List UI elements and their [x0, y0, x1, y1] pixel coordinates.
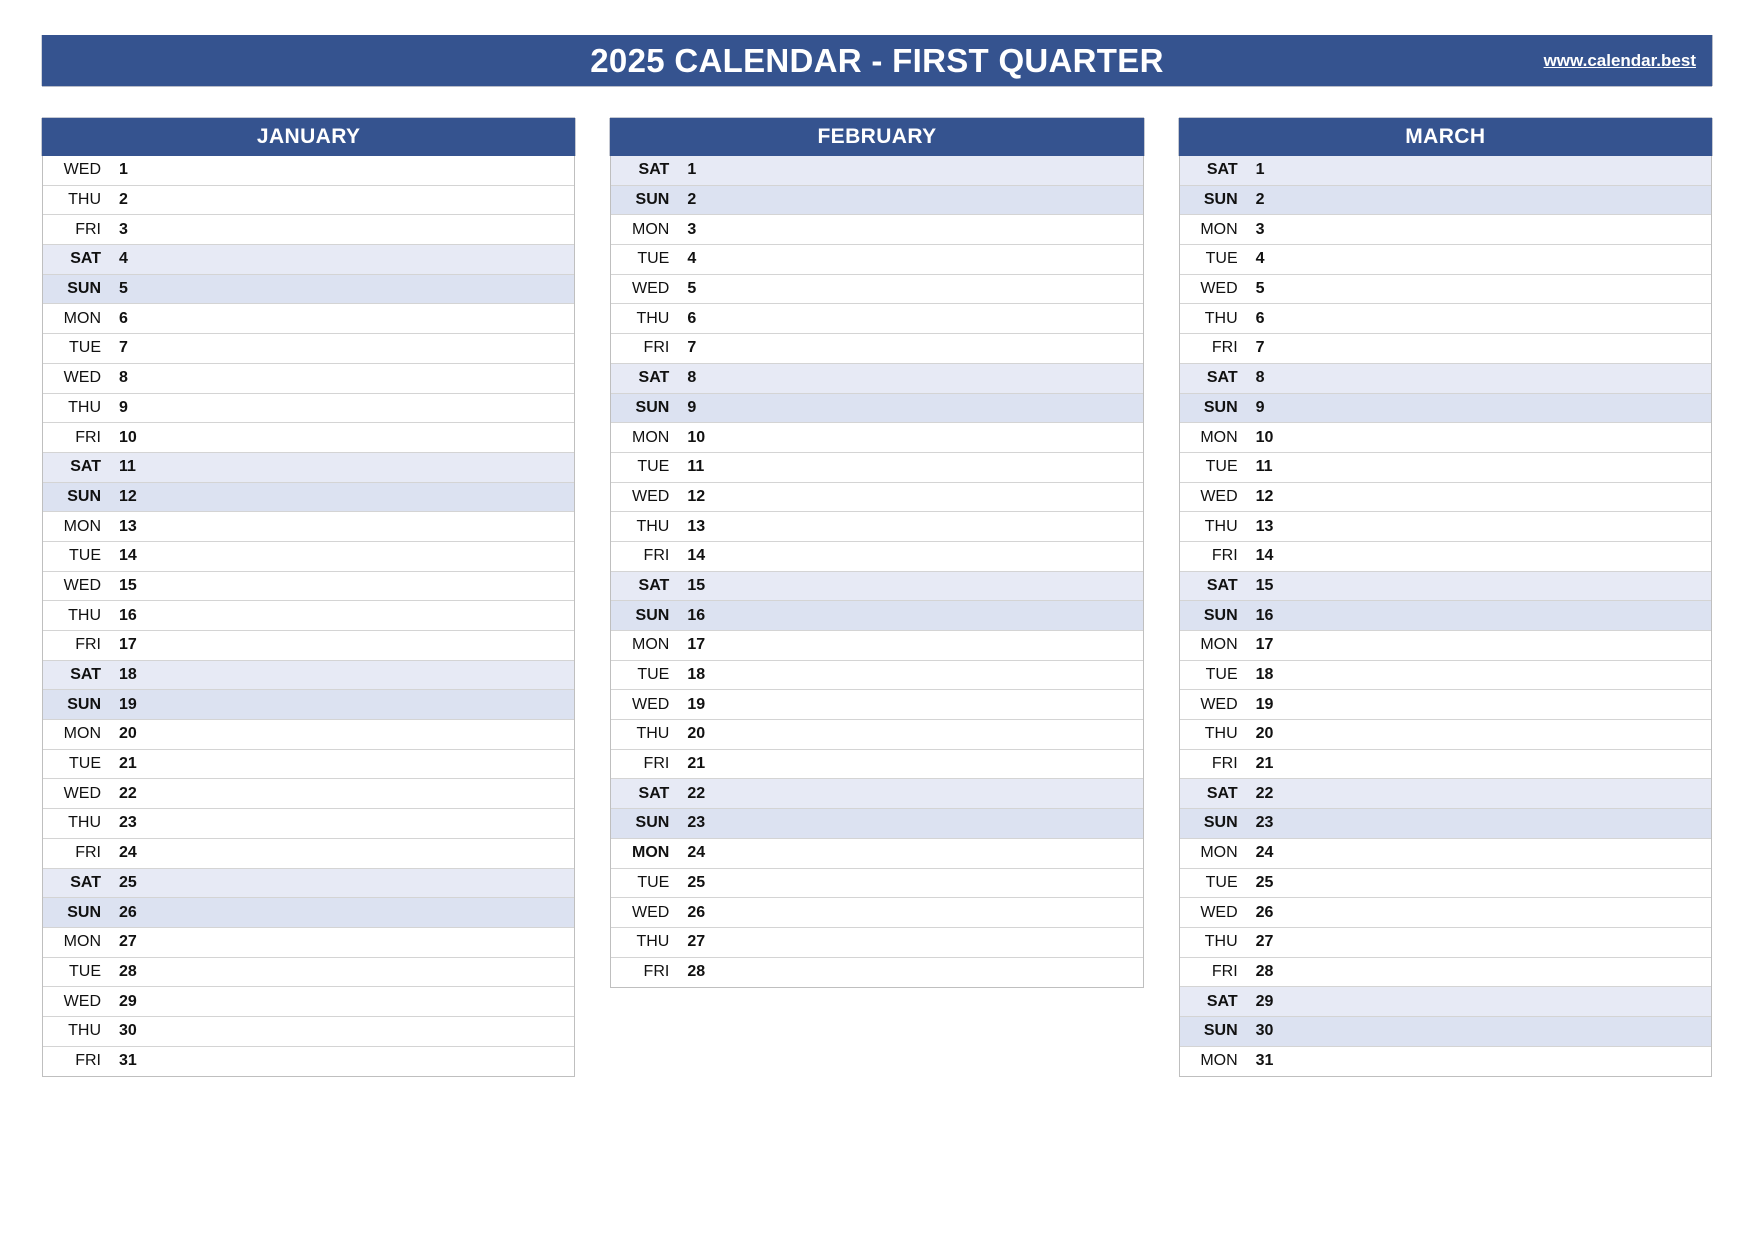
day-number: 13 — [101, 518, 161, 536]
day-row[interactable]: WED22 — [43, 779, 574, 809]
day-number: 20 — [1238, 725, 1298, 743]
day-of-week-label: FRI — [1180, 755, 1238, 773]
day-number: 6 — [669, 310, 729, 328]
day-row[interactable]: SAT22 — [611, 779, 1142, 809]
day-row[interactable]: TUE18 — [1180, 661, 1711, 691]
day-of-week-label: FRI — [43, 1052, 101, 1070]
day-row[interactable]: THU20 — [611, 720, 1142, 750]
day-row[interactable]: THU6 — [611, 304, 1142, 334]
day-of-week-label: SAT — [611, 369, 669, 387]
day-number: 14 — [101, 547, 161, 565]
day-number: 9 — [669, 399, 729, 417]
day-number: 16 — [669, 607, 729, 625]
day-number: 17 — [101, 636, 161, 654]
day-of-week-label: SAT — [611, 577, 669, 595]
day-row[interactable]: SAT4 — [43, 245, 574, 275]
day-number: 20 — [669, 725, 729, 743]
day-row[interactable]: TUE25 — [1180, 869, 1711, 899]
day-number: 3 — [1238, 221, 1298, 239]
day-number: 11 — [669, 458, 729, 476]
day-of-week-label: MON — [1180, 636, 1238, 654]
day-number: 19 — [101, 696, 161, 714]
day-of-week-label: FRI — [1180, 339, 1238, 357]
day-row[interactable]: WED1 — [43, 156, 574, 186]
day-of-week-label: FRI — [1180, 547, 1238, 565]
day-row[interactable]: SAT29 — [1180, 987, 1711, 1017]
day-row[interactable]: TUE4 — [611, 245, 1142, 275]
day-of-week-label: SUN — [43, 696, 101, 714]
day-of-week-label: SUN — [611, 607, 669, 625]
day-number: 30 — [1238, 1022, 1298, 1040]
day-row[interactable]: FRI28 — [611, 958, 1142, 988]
day-of-week-label: TUE — [43, 963, 101, 981]
day-row[interactable]: MON10 — [611, 423, 1142, 453]
day-of-week-label: THU — [611, 518, 669, 536]
day-of-week-label: THU — [611, 933, 669, 951]
day-number: 19 — [1238, 696, 1298, 714]
day-row[interactable]: TUE7 — [43, 334, 574, 364]
day-row[interactable]: FRI17 — [43, 631, 574, 661]
day-number: 13 — [1238, 518, 1298, 536]
day-row[interactable]: FRI31 — [43, 1047, 574, 1077]
month-day-list: WED1THU2FRI3SAT4SUN5MON6TUE7WED8THU9FRI1… — [42, 156, 575, 1077]
day-of-week-label: SUN — [611, 399, 669, 417]
day-number: 4 — [1238, 250, 1298, 268]
day-number: 9 — [1238, 399, 1298, 417]
day-row[interactable]: TUE18 — [611, 661, 1142, 691]
day-of-week-label: SUN — [611, 814, 669, 832]
day-number: 10 — [1238, 429, 1298, 447]
day-of-week-label: WED — [611, 904, 669, 922]
month-day-list: SAT1SUN2MON3TUE4WED5THU6FRI7SAT8SUN9MON1… — [1179, 156, 1712, 1077]
day-number: 29 — [1238, 993, 1298, 1011]
day-number: 22 — [1238, 785, 1298, 803]
day-row[interactable]: TUE21 — [43, 750, 574, 780]
day-of-week-label: FRI — [611, 547, 669, 565]
day-row[interactable]: SAT11 — [43, 453, 574, 483]
day-row[interactable]: SUN2 — [611, 186, 1142, 216]
site-url-link[interactable]: www.calendar.best — [1544, 51, 1696, 71]
page-header: 2025 CALENDAR - FIRST QUARTER www.calend… — [42, 35, 1712, 86]
day-of-week-label: SUN — [1180, 191, 1238, 209]
day-of-week-label: WED — [1180, 280, 1238, 298]
day-row[interactable]: FRI3 — [43, 215, 574, 245]
day-number: 8 — [101, 369, 161, 387]
day-of-week-label: FRI — [43, 844, 101, 862]
day-number: 5 — [669, 280, 729, 298]
day-number: 27 — [669, 933, 729, 951]
day-of-week-label: FRI — [611, 963, 669, 981]
day-of-week-label: SAT — [43, 250, 101, 268]
day-of-week-label: MON — [43, 518, 101, 536]
day-number: 17 — [669, 636, 729, 654]
day-of-week-label: WED — [43, 577, 101, 595]
day-row[interactable]: SUN23 — [1180, 809, 1711, 839]
day-row[interactable]: WED26 — [1180, 898, 1711, 928]
day-of-week-label: SUN — [1180, 1022, 1238, 1040]
day-row[interactable]: SUN23 — [611, 809, 1142, 839]
day-of-week-label: THU — [1180, 310, 1238, 328]
month-column-february: FEBRUARYSAT1SUN2MON3TUE4WED5THU6FRI7SAT8… — [610, 118, 1143, 1077]
day-row[interactable]: THU6 — [1180, 304, 1711, 334]
day-number: 2 — [101, 191, 161, 209]
day-row[interactable]: MON24 — [1180, 839, 1711, 869]
day-of-week-label: MON — [1180, 429, 1238, 447]
day-of-week-label: WED — [611, 280, 669, 298]
day-row[interactable]: FRI7 — [611, 334, 1142, 364]
day-of-week-label: SAT — [1180, 993, 1238, 1011]
day-row[interactable]: THU16 — [43, 601, 574, 631]
month-header: FEBRUARY — [610, 118, 1143, 156]
day-of-week-label: THU — [1180, 725, 1238, 743]
day-row[interactable]: SAT1 — [611, 156, 1142, 186]
day-of-week-label: TUE — [1180, 874, 1238, 892]
day-row[interactable]: SAT18 — [43, 661, 574, 691]
day-number: 16 — [101, 607, 161, 625]
day-number: 2 — [1238, 191, 1298, 209]
day-of-week-label: SUN — [43, 280, 101, 298]
month-day-list: SAT1SUN2MON3TUE4WED5THU6FRI7SAT8SUN9MON1… — [610, 156, 1143, 988]
day-of-week-label: FRI — [611, 339, 669, 357]
day-of-week-label: SAT — [43, 874, 101, 892]
day-of-week-label: TUE — [1180, 250, 1238, 268]
day-number: 10 — [101, 429, 161, 447]
day-row[interactable]: THU13 — [611, 512, 1142, 542]
day-number: 4 — [669, 250, 729, 268]
day-row[interactable]: TUE28 — [43, 958, 574, 988]
day-number: 5 — [1238, 280, 1298, 298]
day-of-week-label: FRI — [1180, 963, 1238, 981]
day-row[interactable]: MON24 — [611, 839, 1142, 869]
day-row[interactable]: SAT8 — [611, 364, 1142, 394]
day-number: 23 — [101, 814, 161, 832]
day-row[interactable]: THU30 — [43, 1017, 574, 1047]
day-row[interactable]: WED15 — [43, 572, 574, 602]
day-row[interactable]: TUE4 — [1180, 245, 1711, 275]
day-of-week-label: SAT — [1180, 577, 1238, 595]
day-row[interactable]: MON6 — [43, 304, 574, 334]
day-row[interactable]: FRI10 — [43, 423, 574, 453]
day-row[interactable]: SAT8 — [1180, 364, 1711, 394]
day-row[interactable]: FRI7 — [1180, 334, 1711, 364]
day-number: 21 — [1238, 755, 1298, 773]
day-row[interactable]: SUN26 — [43, 898, 574, 928]
day-number: 18 — [669, 666, 729, 684]
day-number: 25 — [669, 874, 729, 892]
day-row[interactable]: WED12 — [1180, 483, 1711, 513]
day-of-week-label: WED — [43, 161, 101, 179]
day-of-week-label: WED — [1180, 904, 1238, 922]
day-number: 6 — [1238, 310, 1298, 328]
day-of-week-label: MON — [43, 933, 101, 951]
day-row[interactable]: SUN5 — [43, 275, 574, 305]
page-title: 2025 CALENDAR - FIRST QUARTER — [590, 42, 1163, 80]
day-of-week-label: FRI — [43, 636, 101, 654]
day-of-week-label: THU — [43, 399, 101, 417]
month-header: MARCH — [1179, 118, 1712, 156]
day-number: 3 — [669, 221, 729, 239]
day-row[interactable]: FRI24 — [43, 839, 574, 869]
day-number: 26 — [101, 904, 161, 922]
day-number: 28 — [1238, 963, 1298, 981]
day-of-week-label: THU — [611, 310, 669, 328]
day-number: 28 — [669, 963, 729, 981]
day-row[interactable]: WED5 — [611, 275, 1142, 305]
day-of-week-label: TUE — [1180, 458, 1238, 476]
day-row[interactable]: MON3 — [611, 215, 1142, 245]
day-of-week-label: TUE — [43, 547, 101, 565]
day-of-week-label: THU — [1180, 518, 1238, 536]
day-number: 8 — [669, 369, 729, 387]
day-number: 31 — [101, 1052, 161, 1070]
day-row[interactable]: THU9 — [43, 394, 574, 424]
day-number: 12 — [669, 488, 729, 506]
day-of-week-label: WED — [611, 488, 669, 506]
day-number: 10 — [669, 429, 729, 447]
day-of-week-label: MON — [611, 636, 669, 654]
day-row[interactable]: WED19 — [1180, 690, 1711, 720]
day-of-week-label: WED — [611, 696, 669, 714]
day-row[interactable]: THU2 — [43, 186, 574, 216]
day-number: 19 — [669, 696, 729, 714]
day-row[interactable]: MON31 — [1180, 1047, 1711, 1077]
day-row[interactable]: FRI14 — [1180, 542, 1711, 572]
day-number: 1 — [669, 161, 729, 179]
day-row[interactable]: SUN16 — [1180, 601, 1711, 631]
month-column-january: JANUARYWED1THU2FRI3SAT4SUN5MON6TUE7WED8T… — [42, 118, 575, 1077]
day-row[interactable]: THU20 — [1180, 720, 1711, 750]
day-row[interactable]: SAT25 — [43, 869, 574, 899]
day-of-week-label: WED — [1180, 696, 1238, 714]
day-number: 21 — [101, 755, 161, 773]
day-row[interactable]: WED12 — [611, 483, 1142, 513]
day-number: 30 — [101, 1022, 161, 1040]
day-number: 24 — [1238, 844, 1298, 862]
day-row[interactable]: FRI14 — [611, 542, 1142, 572]
day-of-week-label: TUE — [611, 666, 669, 684]
day-number: 9 — [101, 399, 161, 417]
day-of-week-label: TUE — [43, 339, 101, 357]
day-of-week-label: SAT — [611, 785, 669, 803]
day-row[interactable]: TUE11 — [611, 453, 1142, 483]
day-row[interactable]: WED29 — [43, 987, 574, 1017]
day-number: 7 — [101, 339, 161, 357]
day-row[interactable]: WED5 — [1180, 275, 1711, 305]
day-row[interactable]: SUN30 — [1180, 1017, 1711, 1047]
day-of-week-label: SAT — [1180, 161, 1238, 179]
day-row[interactable]: TUE14 — [43, 542, 574, 572]
day-row[interactable]: SUN19 — [43, 690, 574, 720]
day-row[interactable]: WED8 — [43, 364, 574, 394]
day-of-week-label: WED — [1180, 488, 1238, 506]
day-of-week-label: MON — [611, 221, 669, 239]
day-number: 28 — [101, 963, 161, 981]
day-number: 18 — [101, 666, 161, 684]
day-of-week-label: SAT — [43, 458, 101, 476]
day-row[interactable]: MON20 — [43, 720, 574, 750]
day-number: 15 — [101, 577, 161, 595]
day-number: 2 — [669, 191, 729, 209]
day-number: 25 — [101, 874, 161, 892]
day-of-week-label: THU — [43, 1022, 101, 1040]
day-row[interactable]: FRI21 — [1180, 750, 1711, 780]
day-number: 7 — [1238, 339, 1298, 357]
day-of-week-label: MON — [611, 844, 669, 862]
day-number: 6 — [101, 310, 161, 328]
day-number: 17 — [1238, 636, 1298, 654]
day-of-week-label: FRI — [43, 429, 101, 447]
day-row[interactable]: SUN2 — [1180, 186, 1711, 216]
day-row[interactable]: TUE11 — [1180, 453, 1711, 483]
day-of-week-label: MON — [1180, 1052, 1238, 1070]
day-row[interactable]: MON27 — [43, 928, 574, 958]
day-of-week-label: SAT — [43, 666, 101, 684]
day-number: 12 — [101, 488, 161, 506]
day-of-week-label: TUE — [611, 874, 669, 892]
day-number: 20 — [101, 725, 161, 743]
day-number: 21 — [669, 755, 729, 773]
day-number: 18 — [1238, 666, 1298, 684]
day-row[interactable]: WED19 — [611, 690, 1142, 720]
day-of-week-label: WED — [43, 993, 101, 1011]
day-number: 27 — [101, 933, 161, 951]
day-row[interactable]: THU27 — [1180, 928, 1711, 958]
day-of-week-label: SUN — [1180, 399, 1238, 417]
day-of-week-label: TUE — [43, 755, 101, 773]
day-of-week-label: SUN — [43, 488, 101, 506]
day-number: 5 — [101, 280, 161, 298]
day-number: 22 — [101, 785, 161, 803]
day-of-week-label: THU — [611, 725, 669, 743]
day-row[interactable]: THU27 — [611, 928, 1142, 958]
day-row[interactable]: WED26 — [611, 898, 1142, 928]
day-of-week-label: TUE — [611, 458, 669, 476]
day-of-week-label: SUN — [43, 904, 101, 922]
day-number: 16 — [1238, 607, 1298, 625]
day-number: 1 — [101, 161, 161, 179]
day-number: 24 — [669, 844, 729, 862]
day-number: 11 — [101, 458, 161, 476]
month-column-march: MARCHSAT1SUN2MON3TUE4WED5THU6FRI7SAT8SUN… — [1179, 118, 1712, 1077]
day-number: 25 — [1238, 874, 1298, 892]
day-of-week-label: THU — [43, 814, 101, 832]
day-number: 26 — [669, 904, 729, 922]
day-number: 29 — [101, 993, 161, 1011]
day-row[interactable]: MON17 — [611, 631, 1142, 661]
day-of-week-label: SAT — [1180, 785, 1238, 803]
day-of-week-label: SAT — [1180, 369, 1238, 387]
day-row[interactable]: MON13 — [43, 512, 574, 542]
day-of-week-label: TUE — [1180, 666, 1238, 684]
day-row[interactable]: MON10 — [1180, 423, 1711, 453]
day-of-week-label: MON — [43, 725, 101, 743]
day-number: 1 — [1238, 161, 1298, 179]
day-number: 14 — [669, 547, 729, 565]
day-row[interactable]: SAT1 — [1180, 156, 1711, 186]
day-of-week-label: MON — [611, 429, 669, 447]
day-of-week-label: THU — [43, 607, 101, 625]
day-of-week-label: WED — [43, 369, 101, 387]
day-number: 7 — [669, 339, 729, 357]
day-of-week-label: MON — [1180, 221, 1238, 239]
day-of-week-label: SAT — [611, 161, 669, 179]
day-of-week-label: SUN — [1180, 607, 1238, 625]
day-row[interactable]: SUN12 — [43, 483, 574, 513]
months-container: JANUARYWED1THU2FRI3SAT4SUN5MON6TUE7WED8T… — [42, 118, 1712, 1077]
day-row[interactable]: SAT15 — [1180, 572, 1711, 602]
day-row[interactable]: SAT22 — [1180, 779, 1711, 809]
day-number: 22 — [669, 785, 729, 803]
day-row[interactable]: FRI21 — [611, 750, 1142, 780]
day-of-week-label: WED — [43, 785, 101, 803]
day-number: 24 — [101, 844, 161, 862]
day-of-week-label: THU — [43, 191, 101, 209]
day-row[interactable]: MON17 — [1180, 631, 1711, 661]
day-row[interactable]: THU23 — [43, 809, 574, 839]
day-number: 15 — [669, 577, 729, 595]
day-number: 13 — [669, 518, 729, 536]
day-row[interactable]: TUE25 — [611, 869, 1142, 899]
day-number: 8 — [1238, 369, 1298, 387]
day-row[interactable]: SUN9 — [611, 394, 1142, 424]
month-header: JANUARY — [42, 118, 575, 156]
day-number: 4 — [101, 250, 161, 268]
day-row[interactable]: SAT15 — [611, 572, 1142, 602]
day-number: 31 — [1238, 1052, 1298, 1070]
day-row[interactable]: FRI28 — [1180, 958, 1711, 988]
day-row[interactable]: MON3 — [1180, 215, 1711, 245]
day-number: 14 — [1238, 547, 1298, 565]
day-number: 23 — [669, 814, 729, 832]
day-number: 27 — [1238, 933, 1298, 951]
day-number: 23 — [1238, 814, 1298, 832]
day-number: 11 — [1238, 458, 1298, 476]
day-of-week-label: MON — [1180, 844, 1238, 862]
day-of-week-label: SUN — [611, 191, 669, 209]
day-number: 26 — [1238, 904, 1298, 922]
day-row[interactable]: SUN16 — [611, 601, 1142, 631]
day-number: 3 — [101, 221, 161, 239]
day-row[interactable]: THU13 — [1180, 512, 1711, 542]
day-of-week-label: TUE — [611, 250, 669, 268]
day-row[interactable]: SUN9 — [1180, 394, 1711, 424]
day-of-week-label: FRI — [43, 221, 101, 239]
day-number: 12 — [1238, 488, 1298, 506]
day-of-week-label: SUN — [1180, 814, 1238, 832]
day-of-week-label: FRI — [611, 755, 669, 773]
day-of-week-label: MON — [43, 310, 101, 328]
day-number: 15 — [1238, 577, 1298, 595]
day-of-week-label: THU — [1180, 933, 1238, 951]
